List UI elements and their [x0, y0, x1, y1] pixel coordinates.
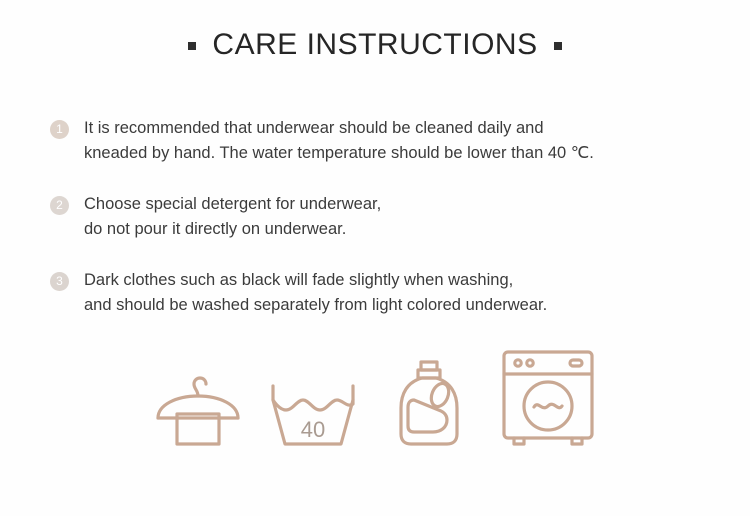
icon-cell-hanger: [150, 370, 246, 450]
care-symbol-strip: 40: [150, 340, 600, 450]
icon-cell-washtub: 40: [265, 370, 361, 450]
list-item: 3 Dark clothes such as black will fade s…: [50, 268, 740, 318]
list-item-line: do not pour it directly on underwear.: [84, 217, 381, 242]
page-title-row: CARE INSTRUCTIONS: [0, 28, 750, 62]
list-item-line: It is recommended that underwear should …: [84, 116, 594, 141]
list-number-badge-2: 2: [50, 196, 69, 215]
list-item-line: Dark clothes such as black will fade sli…: [84, 268, 547, 293]
list-item-line: kneaded by hand. The water temperature s…: [84, 141, 594, 166]
list-item-text-3: Dark clothes such as black will fade sli…: [84, 268, 547, 318]
clothes-hanger-icon: [150, 370, 246, 450]
list-number-badge-1: 1: [50, 120, 69, 139]
list-item-text-2: Choose special detergent for underwear, …: [84, 192, 381, 242]
list-item-line: Choose special detergent for underwear,: [84, 192, 381, 217]
list-number-badge-3: 3: [50, 272, 69, 291]
list-item-line: and should be washed separately from lig…: [84, 293, 547, 318]
wash-temperature-label: 40: [301, 417, 325, 442]
wash-tub-icon: 40: [265, 370, 361, 450]
list-item-text-1: It is recommended that underwear should …: [84, 116, 594, 166]
list-item: 2 Choose special detergent for underwear…: [50, 192, 740, 242]
icon-cell-detergent: [381, 356, 477, 450]
page-title: CARE INSTRUCTIONS: [212, 28, 537, 62]
list-item: 1 It is recommended that underwear shoul…: [50, 116, 740, 166]
washing-machine-icon: [496, 346, 600, 450]
square-bullet-right-icon: [554, 42, 562, 50]
detergent-bottle-icon: [381, 356, 477, 450]
care-instructions-page: CARE INSTRUCTIONS 1 It is recommended th…: [0, 0, 750, 516]
instruction-list: 1 It is recommended that underwear shoul…: [50, 116, 740, 344]
square-bullet-left-icon: [188, 42, 196, 50]
icon-cell-washing-machine: [496, 346, 600, 450]
